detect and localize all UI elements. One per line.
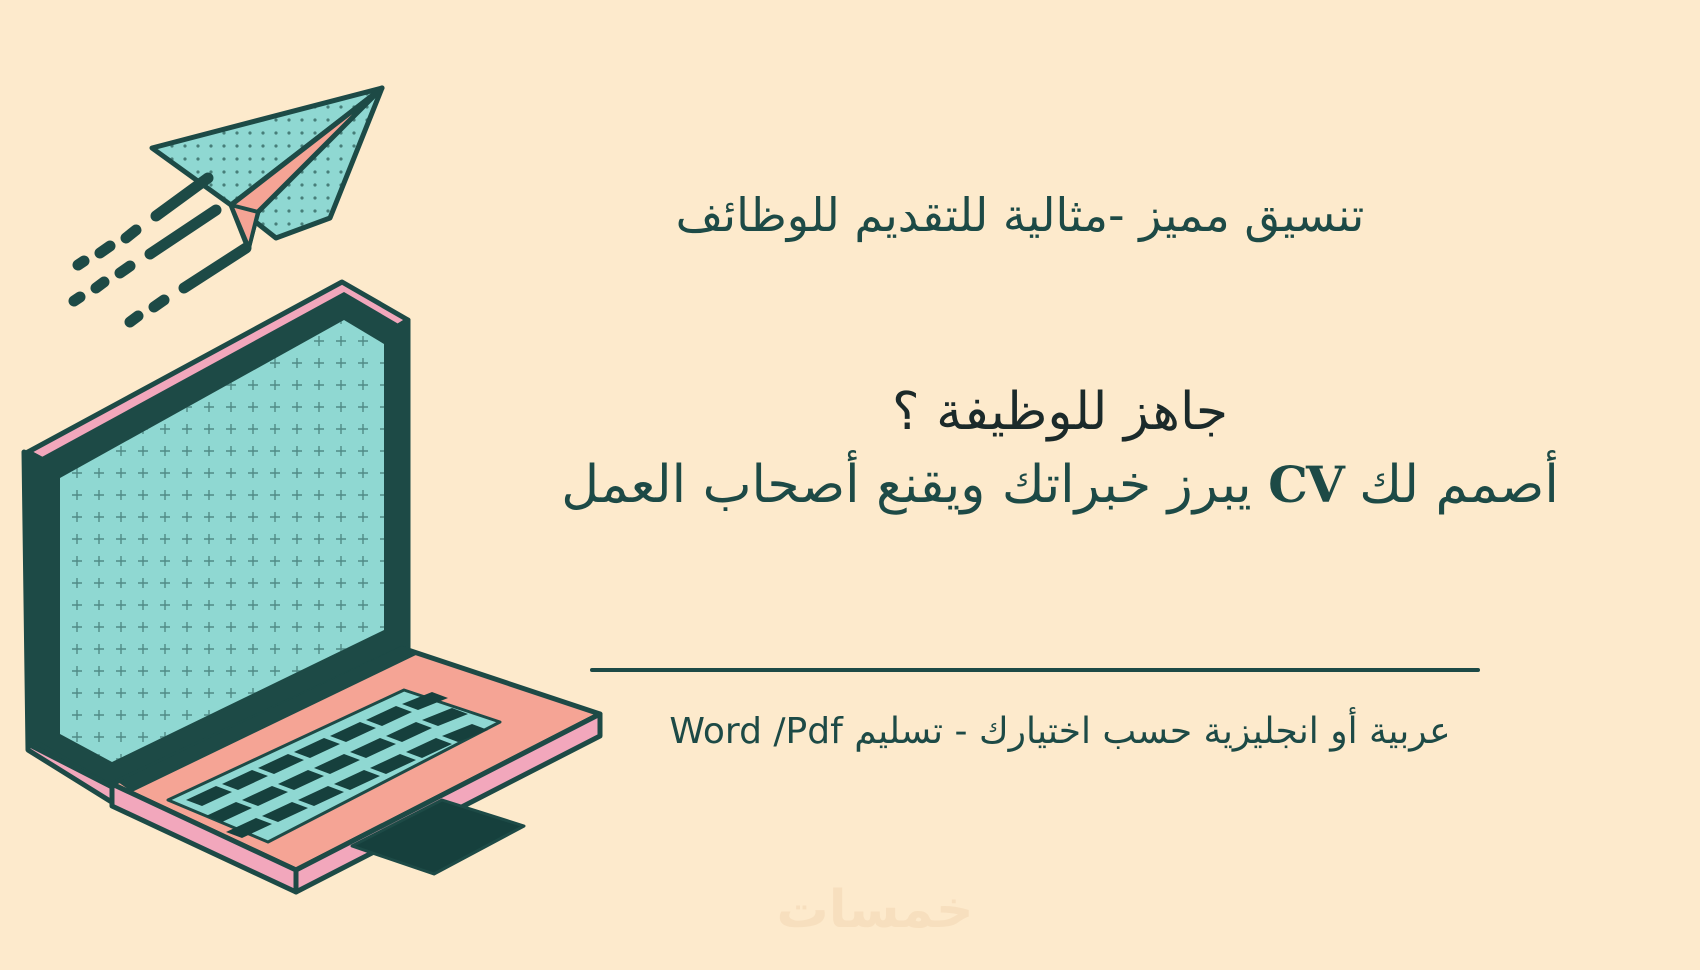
- headline-secondary-before: أصمم لك: [1343, 455, 1559, 515]
- cv-badge: CV: [1268, 455, 1343, 514]
- text-column: تنسيق مميز -مثالية للتقديم للوظائف جاهز …: [490, 0, 1630, 970]
- headline-secondary-after: يبرز خبراتك ويقنع أصحاب العمل: [561, 455, 1268, 515]
- headline-secondary: أصمم لك CV يبرز خبراتك ويقنع أصحاب العمل: [490, 453, 1630, 518]
- watermark: خمسات: [730, 880, 1020, 940]
- headline-block: جاهز للوظيفة ؟ أصمم لك CV يبرز خبراتك وي…: [490, 380, 1630, 518]
- headline-primary: جاهز للوظيفة ؟: [490, 380, 1630, 445]
- divider: [590, 668, 1480, 672]
- subline: عربية أو انجليزية حسب اختيارك - تسليم Wo…: [490, 708, 1630, 757]
- promo-poster: تنسيق مميز -مثالية للتقديم للوظائف جاهز …: [0, 0, 1700, 970]
- tagline: تنسيق مميز -مثالية للتقديم للوظائف: [490, 188, 1550, 243]
